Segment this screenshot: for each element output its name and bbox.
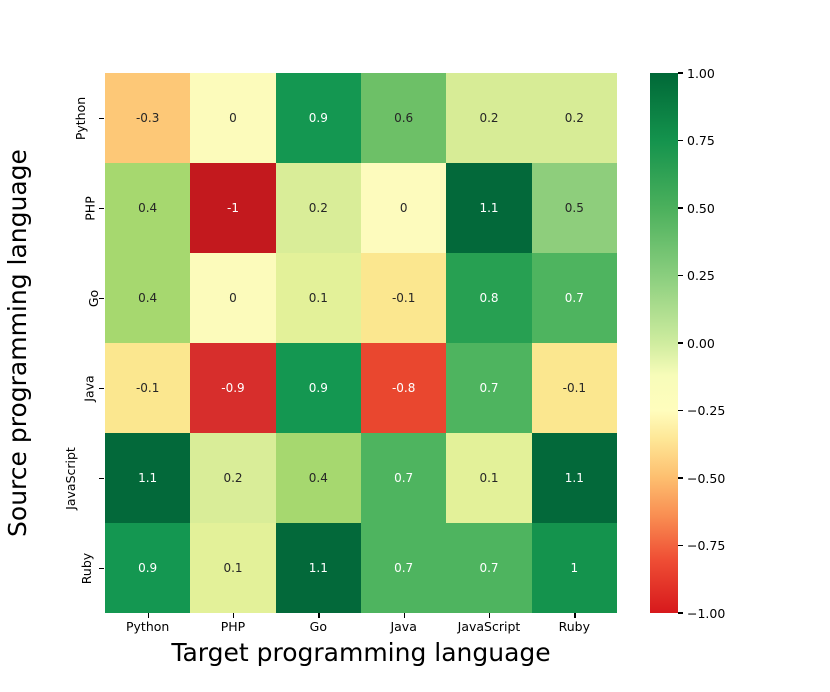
heatmap-cell: 0.7 xyxy=(532,253,617,343)
heatmap-cell-value: -1 xyxy=(227,201,239,215)
heatmap-cell: 0.1 xyxy=(276,253,361,343)
y-axis-tick-labels: PythonPHPGoJavaJavaScriptRuby xyxy=(62,73,102,613)
heatmap-cell-value: 0.2 xyxy=(479,111,498,125)
y-tick-label: Python xyxy=(73,96,88,139)
y-tick-java: Java xyxy=(62,343,102,433)
heatmap-cell: 1.1 xyxy=(446,163,531,253)
colorbar-gradient xyxy=(650,73,678,613)
colorbar-tick-label: 1.00 xyxy=(687,66,715,81)
heatmap-cell: 0 xyxy=(361,163,446,253)
heatmap-cell-value: -0.1 xyxy=(392,291,415,305)
colorbar-tick-label: −0.75 xyxy=(687,538,725,553)
heatmap-cell-value: -0.1 xyxy=(563,381,586,395)
colorbar-tick-mark xyxy=(678,207,683,208)
colorbar-tick-mark xyxy=(678,545,683,546)
heatmap-cell-value: 0.2 xyxy=(223,471,242,485)
y-axis-label: Source programming language xyxy=(0,73,34,613)
heatmap-cell: 0.2 xyxy=(446,73,531,163)
heatmap-cell-value: 1.1 xyxy=(565,471,584,485)
y-tick-label: Java xyxy=(81,375,96,401)
x-tick-mark xyxy=(574,613,575,618)
heatmap-cell: -0.1 xyxy=(105,343,190,433)
heatmap-cell-value: -0.9 xyxy=(221,381,244,395)
heatmap-cell-value: 0.4 xyxy=(138,291,157,305)
colorbar-tick-mark xyxy=(678,410,683,411)
heatmap-cell-value: 1.1 xyxy=(138,471,157,485)
colorbar-tick-label: −0.25 xyxy=(687,403,725,418)
x-tick-mark xyxy=(404,613,405,618)
colorbar-tick-mark xyxy=(678,275,683,276)
heatmap-cell: 0 xyxy=(190,253,275,343)
y-tick-label: JavaScript xyxy=(63,447,78,510)
heatmap-cell: 0.2 xyxy=(190,433,275,523)
heatmap-cell-value: 0.4 xyxy=(309,471,328,485)
colorbar-tick: −0.50 xyxy=(678,471,725,485)
y-tick-mark xyxy=(99,388,104,389)
colorbar-tick: 0.25 xyxy=(678,269,715,283)
heatmap-cell-value: 0 xyxy=(229,291,237,305)
heatmap-cell-value: 1.1 xyxy=(309,561,328,575)
x-tick-go: Go xyxy=(276,619,361,634)
heatmap-cell: 0.1 xyxy=(446,433,531,523)
heatmap-cell-value: 0.1 xyxy=(223,561,242,575)
x-tick-python: Python xyxy=(105,619,190,634)
colorbar-tick-label: 0.75 xyxy=(687,133,715,148)
heatmap-cell-value: 0.2 xyxy=(309,201,328,215)
heatmap-cell: 0.7 xyxy=(361,523,446,613)
y-tick-php: PHP xyxy=(62,163,102,253)
colorbar-tick: −0.75 xyxy=(678,539,725,553)
heatmap-cell: -0.9 xyxy=(190,343,275,433)
heatmap-cell: 0.9 xyxy=(276,73,361,163)
colorbar-tick: 0.00 xyxy=(678,336,715,350)
heatmap-cell-value: 0.8 xyxy=(479,291,498,305)
heatmap-cell: 0.9 xyxy=(276,343,361,433)
heatmap-cell-value: 0.7 xyxy=(479,381,498,395)
colorbar-tick-mark xyxy=(678,612,683,613)
y-tick-mark xyxy=(99,568,104,569)
x-tick-ruby: Ruby xyxy=(532,619,617,634)
heatmap-cell-value: 0.5 xyxy=(565,201,584,215)
heatmap-cell-value: -0.8 xyxy=(392,381,415,395)
heatmap-cell-value: 0.4 xyxy=(138,201,157,215)
heatmap-cell: -0.3 xyxy=(105,73,190,163)
heatmap-grid: -0.300.90.60.20.20.4-10.201.10.50.400.1-… xyxy=(105,73,617,613)
colorbar-tick-mark xyxy=(678,342,683,343)
heatmap-cell: -0.1 xyxy=(532,343,617,433)
y-tick-python: Python xyxy=(62,73,102,163)
colorbar-tick-label: −1.00 xyxy=(687,606,725,621)
heatmap-cell: 1 xyxy=(532,523,617,613)
heatmap-cell-value: 0.1 xyxy=(479,471,498,485)
colorbar-tick-labels: 1.000.750.500.250.00−0.25−0.50−0.75−1.00 xyxy=(678,73,758,613)
heatmap-cell-value: 0.9 xyxy=(309,381,328,395)
heatmap-cell: 0.4 xyxy=(105,253,190,343)
colorbar-tick: −1.00 xyxy=(678,606,725,620)
heatmap-cell: 0.4 xyxy=(105,163,190,253)
x-axis-label: Target programming language xyxy=(105,638,617,667)
colorbar-tick-mark xyxy=(678,477,683,478)
heatmap-cell: 1.1 xyxy=(105,433,190,523)
x-tick-java: Java xyxy=(361,619,446,634)
colorbar-tick-mark xyxy=(678,72,683,73)
heatmap-cell: 0.7 xyxy=(361,433,446,523)
x-axis-tick-labels: PythonPHPGoJavaJavaScriptRuby xyxy=(105,613,617,637)
colorbar-tick: 0.75 xyxy=(678,134,715,148)
x-tick-mark xyxy=(148,613,149,618)
heatmap-cell: 1.1 xyxy=(532,433,617,523)
heatmap-cell: 0.7 xyxy=(446,523,531,613)
heatmap-cell-value: 0.2 xyxy=(565,111,584,125)
colorbar-tick: 1.00 xyxy=(678,66,715,80)
y-tick-go: Go xyxy=(62,253,102,343)
heatmap-cell-value: 0.6 xyxy=(394,111,413,125)
heatmap-cell-value: 0.1 xyxy=(309,291,328,305)
heatmap-cell-value: 0.7 xyxy=(394,561,413,575)
x-tick-mark xyxy=(489,613,490,618)
x-tick-mark xyxy=(318,613,319,618)
heatmap-cell-value: 0.7 xyxy=(479,561,498,575)
heatmap-cell: 0.6 xyxy=(361,73,446,163)
y-tick-mark xyxy=(99,208,104,209)
heatmap-cell-value: 0.7 xyxy=(394,471,413,485)
y-tick-label: PHP xyxy=(82,196,97,220)
heatmap-cell-value: 0 xyxy=(229,111,237,125)
heatmap-cell: 0.5 xyxy=(532,163,617,253)
heatmap-cell-value: 0.9 xyxy=(138,561,157,575)
colorbar-tick-label: 0.50 xyxy=(687,201,715,216)
colorbar-tick-label: 0.25 xyxy=(687,268,715,283)
x-tick-javascript: JavaScript xyxy=(446,619,531,634)
heatmap-cell: 0.1 xyxy=(190,523,275,613)
colorbar-tick-label: −0.50 xyxy=(687,471,725,486)
heatmap-cell: 0.9 xyxy=(105,523,190,613)
y-tick-mark xyxy=(99,118,104,119)
y-tick-mark xyxy=(99,298,104,299)
heatmap-cell-value: 1 xyxy=(571,561,579,575)
heatmap-cell-value: 1.1 xyxy=(479,201,498,215)
heatmap-cell: -0.1 xyxy=(361,253,446,343)
y-tick-ruby: Ruby xyxy=(62,523,102,613)
heatmap-cell: 0.2 xyxy=(276,163,361,253)
heatmap-cell: 0.4 xyxy=(276,433,361,523)
heatmap-cell: 0.2 xyxy=(532,73,617,163)
heatmap-cell: -0.8 xyxy=(361,343,446,433)
x-tick-mark xyxy=(233,613,234,618)
heatmap-cell: 0.7 xyxy=(446,343,531,433)
colorbar-tick: −0.25 xyxy=(678,404,725,418)
colorbar-tick-label: 0.00 xyxy=(687,336,715,351)
y-tick-label: Ruby xyxy=(79,552,94,583)
y-tick-mark xyxy=(99,478,104,479)
x-tick-php: PHP xyxy=(190,619,275,634)
y-tick-javascript: JavaScript xyxy=(62,433,102,523)
heatmap-cell-value: 0.7 xyxy=(565,291,584,305)
heatmap-cell: 1.1 xyxy=(276,523,361,613)
heatmap-cell: 0.8 xyxy=(446,253,531,343)
heatmap-cell-value: 0.9 xyxy=(309,111,328,125)
colorbar xyxy=(650,73,678,613)
heatmap-cell-value: 0 xyxy=(400,201,408,215)
heatmap-cell-value: -0.1 xyxy=(136,381,159,395)
heatmap-figure: Source programming language PythonPHPGoJ… xyxy=(0,0,830,692)
heatmap-cell: 0 xyxy=(190,73,275,163)
colorbar-tick-mark xyxy=(678,140,683,141)
heatmap-cell: -1 xyxy=(190,163,275,253)
heatmap-cell-value: -0.3 xyxy=(136,111,159,125)
colorbar-tick: 0.50 xyxy=(678,201,715,215)
